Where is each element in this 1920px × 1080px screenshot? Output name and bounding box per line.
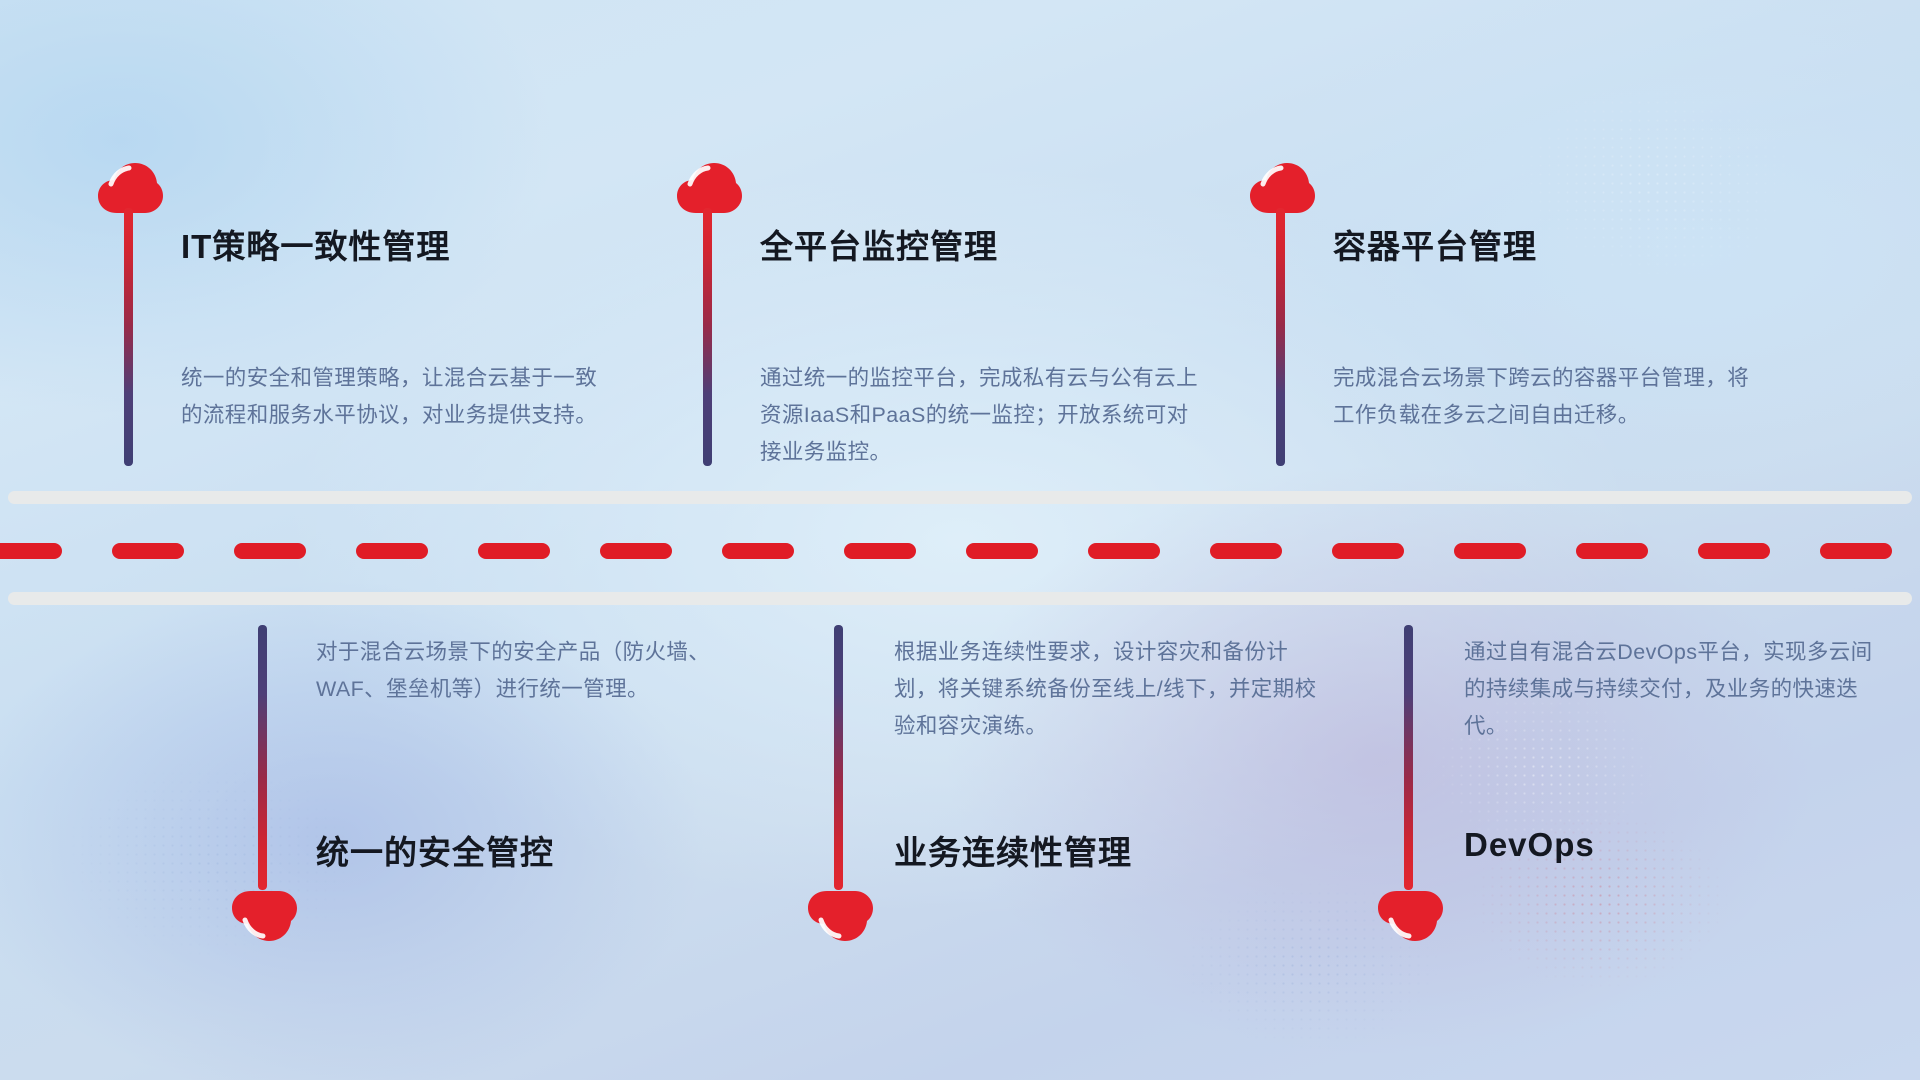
column-heading: DevOps <box>1464 826 1595 864</box>
road-dash <box>1820 543 1892 559</box>
road-dash <box>1454 543 1526 559</box>
road-dash <box>722 543 794 559</box>
column-heading: 容器平台管理 <box>1333 220 1537 268</box>
column-stem <box>124 208 133 466</box>
road-dash-row <box>0 543 1920 559</box>
column-body-text: 通过自有混合云DevOps平台，实现多云间的持续集成与持续交付，及业务的快速迭代… <box>1464 634 1884 745</box>
road-line-bottom <box>8 592 1912 605</box>
road-line-top <box>8 491 1912 504</box>
column-heading: 全平台监控管理 <box>760 220 998 268</box>
road-dash <box>356 543 428 559</box>
cloud-icon <box>1249 162 1315 214</box>
column-stem <box>1276 208 1285 466</box>
column-body-text: 完成混合云场景下跨云的容器平台管理，将工作负载在多云之间自由迁移。 <box>1333 360 1753 434</box>
road-dash <box>112 543 184 559</box>
road-dash <box>234 543 306 559</box>
infographic-canvas: IT策略一致性管理 统一的安全和管理策略，让混合云基于一致的流程和服务水平协议，… <box>0 0 1920 1080</box>
road-dash <box>966 543 1038 559</box>
column-heading: IT策略一致性管理 <box>181 220 450 268</box>
road-dash <box>1210 543 1282 559</box>
column-body-text: 根据业务连续性要求，设计容灾和备份计划，将关键系统备份至线上/线下，并定期校验和… <box>894 634 1324 745</box>
cloud-icon <box>676 162 742 214</box>
dot-cluster-top-decoration <box>1500 80 1800 280</box>
dot-cluster-blue-left-decoration <box>60 760 360 960</box>
road-dash <box>600 543 672 559</box>
road-dash <box>844 543 916 559</box>
column-stem <box>834 625 843 890</box>
road-dash <box>1576 543 1648 559</box>
column-body-text: 对于混合云场景下的安全产品（防火墙、WAF、堡垒机等）进行统一管理。 <box>316 634 736 708</box>
road-dash <box>1332 543 1404 559</box>
column-heading: 业务连续性管理 <box>894 826 1132 874</box>
road-dash <box>1088 543 1160 559</box>
road-dash <box>478 543 550 559</box>
column-body-text: 通过统一的监控平台，完成私有云与公有云上资源IaaS和PaaS的统一监控；开放系… <box>760 360 1200 471</box>
column-stem <box>258 625 267 890</box>
column-body-text: 统一的安全和管理策略，让混合云基于一致的流程和服务水平协议，对业务提供支持。 <box>181 360 601 434</box>
road-dash <box>0 543 62 559</box>
cloud-icon <box>231 890 297 942</box>
cloud-icon <box>97 162 163 214</box>
column-heading: 统一的安全管控 <box>316 826 554 874</box>
cloud-icon <box>807 890 873 942</box>
road-dash <box>1698 543 1770 559</box>
column-stem <box>1404 625 1413 890</box>
column-stem <box>703 208 712 466</box>
cloud-icon <box>1377 890 1443 942</box>
